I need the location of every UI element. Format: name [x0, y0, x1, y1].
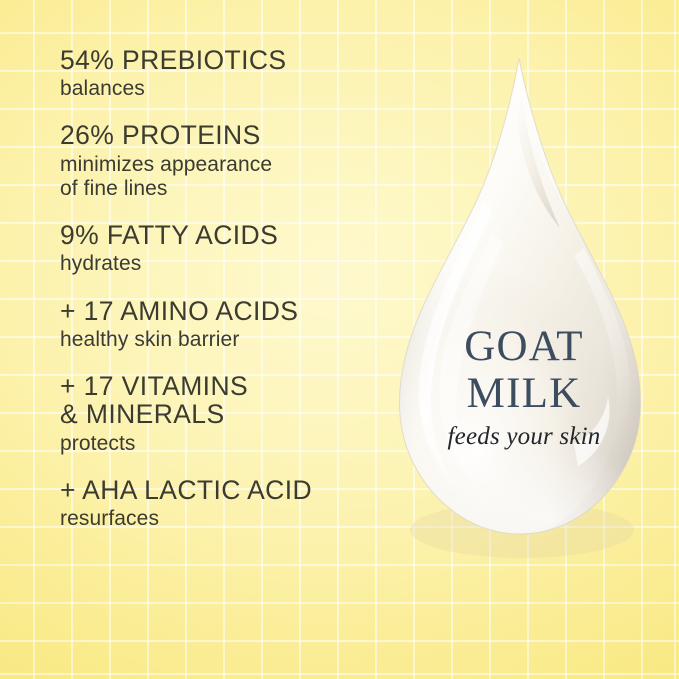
- list-item: + 17 AMINO ACIDS healthy skin barrier: [60, 297, 380, 352]
- ingredient-name: 54% PREBIOTICS: [60, 46, 380, 74]
- ingredient-benefit: minimizes appearance of fine lines: [60, 153, 380, 201]
- ingredient-benefit: healthy skin barrier: [60, 328, 380, 352]
- list-item: 9% FATTY ACIDS hydrates: [60, 221, 380, 276]
- ingredient-name: + AHA LACTIC ACID: [60, 476, 380, 504]
- list-item: 54% PREBIOTICS balances: [60, 46, 380, 101]
- ingredient-name: 9% FATTY ACIDS: [60, 221, 380, 249]
- ingredient-name: + 17 AMINO ACIDS: [60, 297, 380, 325]
- milk-droplet-graphic: GOAT MILK feeds your skin: [388, 52, 660, 552]
- list-item: 26% PROTEINS minimizes appearance of fin…: [60, 121, 380, 201]
- list-item: + 17 VITAMINS & MINERALS protects: [60, 372, 380, 456]
- ingredient-list: 54% PREBIOTICS balances 26% PROTEINS min…: [60, 46, 380, 551]
- ingredient-benefit: balances: [60, 77, 380, 101]
- ingredient-benefit: protects: [60, 432, 380, 456]
- ingredient-benefit: resurfaces: [60, 507, 380, 531]
- ingredient-name: 26% PROTEINS: [60, 121, 380, 149]
- goat-milk-ingredient-infographic: 54% PREBIOTICS balances 26% PROTEINS min…: [0, 0, 679, 679]
- list-item: + AHA LACTIC ACID resurfaces: [60, 476, 380, 531]
- ingredient-benefit: hydrates: [60, 252, 380, 276]
- milk-droplet-icon: [388, 52, 660, 552]
- ingredient-name: + 17 VITAMINS & MINERALS: [60, 372, 380, 429]
